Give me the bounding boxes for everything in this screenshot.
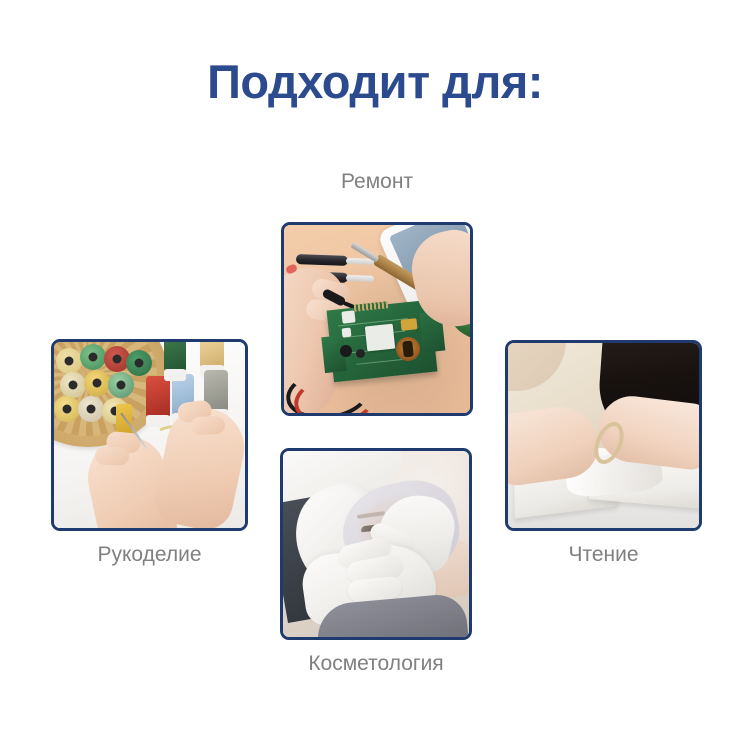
spool-ivory: [60, 372, 86, 398]
needlework-photo: [54, 342, 245, 528]
poster-canvas: Подходит для: Ремонт: [0, 0, 750, 750]
reading-photo: [508, 343, 699, 528]
spool-yellow-2: [54, 396, 80, 422]
chip-small-1: [341, 310, 355, 323]
cosmetology-photo: [283, 451, 469, 637]
capacitor-2: [356, 349, 365, 358]
card-repair-photo-frame[interactable]: [281, 222, 473, 416]
spool-green-2: [126, 350, 152, 376]
spool-green-1: [80, 344, 106, 370]
card-needlework-photo-frame[interactable]: [51, 339, 248, 531]
card-cosmetology[interactable]: Косметология: [280, 448, 472, 690]
connector-gold: [400, 318, 417, 331]
card-needlework[interactable]: Рукоделие: [51, 339, 248, 581]
chip-large: [365, 324, 395, 352]
thread-cone-tan: [200, 342, 224, 370]
thread-cone-red: [146, 376, 170, 420]
card-cosmetology-caption: Косметология: [280, 652, 472, 676]
card-needlework-caption: Рукоделие: [51, 543, 248, 567]
card-reading[interactable]: Чтение: [505, 340, 702, 582]
thread-cone-green: [164, 342, 186, 374]
spool-beige: [78, 396, 104, 422]
spool-cream-1: [56, 348, 82, 374]
card-repair[interactable]: Ремонт: [281, 170, 473, 418]
card-cosmetology-photo-frame[interactable]: [280, 448, 472, 640]
spool-yellow-1: [84, 370, 110, 396]
page-title: Подходит для:: [0, 56, 750, 108]
multimeter-probe-1: [296, 254, 348, 266]
card-reading-photo-frame[interactable]: [505, 340, 702, 531]
repair-photo: [284, 225, 470, 413]
chip-small-2: [342, 328, 352, 338]
card-repair-caption: Ремонт: [281, 170, 473, 194]
card-reading-caption: Чтение: [505, 543, 702, 567]
capacitor-1: [340, 345, 352, 357]
spool-mint: [108, 372, 134, 398]
